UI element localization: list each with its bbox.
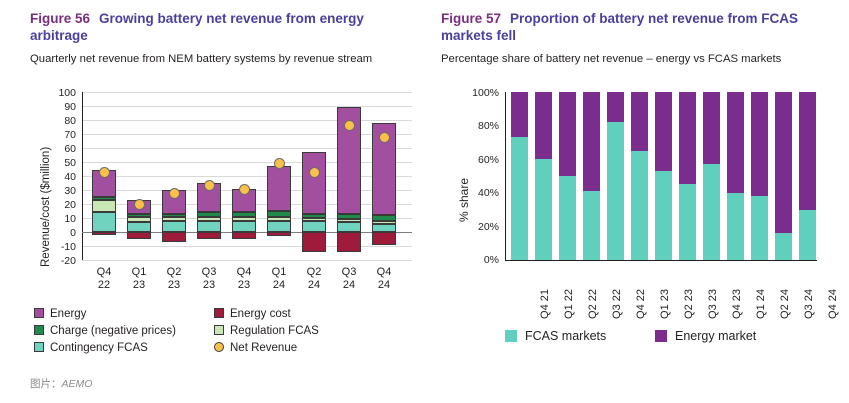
bar-seg-fcas-markets (631, 151, 648, 260)
bar-group (511, 92, 528, 260)
bar-seg-energy-market (799, 92, 816, 210)
figure56-y-axis (82, 92, 83, 260)
figure57-x-axis (505, 260, 817, 261)
x-tick-label: Q3 22 (611, 284, 624, 324)
bar-seg-energy (267, 166, 291, 211)
x-tick-label: Q223 (160, 266, 188, 291)
bar-seg-regulation (337, 219, 361, 222)
y-tick: -10 (44, 242, 76, 252)
legend-label: FCAS markets (525, 329, 606, 343)
bar-seg-fcas-markets (655, 171, 672, 260)
y-tick: 60% (463, 155, 499, 165)
page-root: Figure 56Growing battery net revenue fro… (0, 0, 849, 403)
source-note-label: 图片： (30, 378, 62, 390)
bar-group (727, 92, 744, 260)
bar-seg-energy-market (775, 92, 792, 233)
x-tick-label: Q124 (265, 266, 293, 291)
net-revenue-marker (344, 120, 355, 131)
figure56-number: Figure 56 (30, 11, 90, 26)
bar-group (607, 92, 624, 260)
bar-seg-fcas-markets (559, 176, 576, 260)
net-revenue-marker (239, 184, 250, 195)
x-tick-label: Q4 21 (539, 284, 552, 324)
y-tick: 100% (463, 88, 499, 98)
y-tick: 0% (463, 255, 499, 265)
y-tick: 80 (50, 116, 76, 126)
bar-seg-fcas-markets (679, 184, 696, 260)
bar-group (197, 82, 221, 262)
x-tick-label: Q1 23 (659, 284, 672, 324)
legend-swatch-regulation-fcas (214, 325, 224, 335)
net-revenue-marker (169, 188, 180, 199)
bar-seg-energy-market (511, 92, 528, 137)
figure57-legend: FCAS markets Energy market (505, 329, 835, 349)
bar-seg-fcas-markets (607, 122, 624, 260)
bar-seg-energy-cost (162, 232, 186, 242)
bar-group (92, 82, 116, 262)
legend-swatch-contingency-fcas (34, 342, 44, 352)
y-tick: 20 (50, 200, 76, 210)
bar-seg-energy-cost (267, 232, 291, 236)
legend-item-net-revenue: Net Revenue (214, 342, 297, 354)
bar-seg-fcas-markets (583, 191, 600, 260)
bar-seg-energy-market (559, 92, 576, 176)
bar-group (337, 82, 361, 262)
bar-seg-contingency (267, 221, 291, 232)
bar-seg-energy-market (631, 92, 648, 151)
bar-seg-charge (197, 212, 221, 216)
bar-seg-fcas-markets (775, 233, 792, 260)
y-tick: 20% (463, 222, 499, 232)
bar-seg-energy-market (679, 92, 696, 184)
bar-seg-energy-cost (372, 232, 396, 245)
legend-item-contingency-fcas: Contingency FCAS (34, 342, 148, 354)
figure56-plot: Revenue/cost ($million) 100 90 80 70 60 … (30, 82, 420, 277)
bar-seg-contingency (162, 221, 186, 232)
bar-seg-contingency (197, 221, 221, 232)
x-tick-label: Q2 22 (587, 284, 600, 324)
x-tick-label: Q3 23 (707, 284, 720, 324)
bar-seg-energy-cost (197, 232, 221, 239)
legend-swatch-fcas-markets (505, 330, 517, 342)
figure57-title: Figure 57Proportion of battery net reven… (441, 10, 836, 44)
legend-item-energy: Energy (34, 308, 86, 320)
bar-seg-fcas-markets (535, 159, 552, 260)
legend-label: Net Revenue (230, 342, 297, 354)
x-tick-label: Q323 (195, 266, 223, 291)
bar-group (267, 82, 291, 262)
bar-seg-fcas-markets (511, 137, 528, 260)
bar-seg-contingency (372, 224, 396, 232)
bar-group (703, 92, 720, 260)
figure57-plot: % share 100% 80% 60% 40% 20% 0% (441, 82, 841, 282)
bar-seg-regulation (197, 217, 221, 221)
x-tick-label: Q1 24 (755, 284, 768, 324)
y-tick: 30 (50, 186, 76, 196)
bar-seg-energy (302, 152, 326, 214)
bar-group (162, 82, 186, 262)
bar-seg-charge (302, 214, 326, 218)
bar-seg-fcas-markets (703, 164, 720, 260)
bar-group (751, 92, 768, 260)
bar-seg-energy-market (583, 92, 600, 191)
bar-seg-energy-market (535, 92, 552, 159)
bar-seg-energy-cost (302, 232, 326, 252)
net-revenue-marker (309, 167, 320, 178)
bar-seg-energy-cost (92, 232, 116, 235)
bar-seg-energy-market (703, 92, 720, 164)
bar-group (302, 82, 326, 262)
figure56-title: Figure 56Growing battery net revenue fro… (30, 10, 420, 44)
bar-seg-charge (337, 214, 361, 220)
legend-label: Charge (negative prices) (50, 325, 176, 337)
figure57-number: Figure 57 (441, 11, 501, 26)
net-revenue-marker (134, 199, 145, 210)
bar-group (583, 92, 600, 260)
bar-seg-energy-market (727, 92, 744, 193)
bar-seg-energy-market (607, 92, 624, 122)
bar-seg-contingency (92, 212, 116, 232)
x-tick-label: Q4 24 (827, 284, 840, 324)
bar-seg-energy-market (655, 92, 672, 171)
legend-item-charge: Charge (negative prices) (34, 325, 176, 337)
bar-seg-charge (92, 197, 116, 200)
bar-seg-fcas-markets (799, 210, 816, 260)
bar-seg-charge (162, 214, 186, 217)
figure57-y-axis (505, 92, 506, 260)
x-tick-label: Q324 (335, 266, 363, 291)
bar-group (655, 92, 672, 260)
legend-swatch-energy-cost (214, 308, 224, 318)
y-tick: 60 (50, 144, 76, 154)
legend-swatch-energy (34, 308, 44, 318)
bar-group (372, 82, 396, 262)
legend-item-fcas-markets: FCAS markets (505, 329, 606, 343)
figure56-subtitle: Quarterly net revenue from NEM battery s… (30, 52, 430, 66)
x-tick-label: Q2 24 (779, 284, 792, 324)
bar-group (232, 82, 256, 262)
bar-seg-regulation (127, 217, 151, 223)
y-tick: 80% (463, 121, 499, 131)
bar-group (679, 92, 696, 260)
bar-group (127, 82, 151, 262)
figure57-y-axis-label: % share (457, 178, 471, 222)
y-tick: 100 (50, 88, 76, 98)
y-tick: 90 (50, 102, 76, 112)
y-tick: 40% (463, 188, 499, 198)
y-tick: 10 (50, 214, 76, 224)
bar-seg-fcas-markets (727, 193, 744, 260)
legend-swatch-energy-market (655, 330, 667, 342)
bar-group (799, 92, 816, 260)
legend-label: Regulation FCAS (230, 325, 319, 337)
bar-seg-energy-cost (127, 232, 151, 239)
legend-item-regulation-fcas: Regulation FCAS (214, 325, 319, 337)
net-revenue-marker (204, 180, 215, 191)
bar-seg-energy-cost (232, 232, 256, 239)
x-tick-label: Q2 23 (683, 284, 696, 324)
x-tick-label: Q1 22 (563, 284, 576, 324)
bar-seg-energy-market (751, 92, 768, 196)
legend-swatch-net-revenue (214, 342, 224, 352)
legend-item-energy-cost: Energy cost (214, 308, 291, 320)
x-tick-label: Q123 (125, 266, 153, 291)
x-tick-label: Q4 23 (731, 284, 744, 324)
x-tick-label: Q422 (90, 266, 118, 291)
net-revenue-marker (379, 132, 390, 143)
legend-item-energy-market: Energy market (655, 329, 756, 343)
bar-seg-energy-cost (337, 232, 361, 252)
legend-label: Energy (50, 308, 86, 320)
bar-seg-regulation (372, 221, 396, 224)
figure56-legend: Energy Energy cost Charge (negative pric… (34, 308, 424, 358)
x-tick-label: Q4 22 (635, 284, 648, 324)
bar-seg-contingency (127, 222, 151, 232)
bar-seg-regulation (267, 217, 291, 221)
bar-seg-regulation (302, 218, 326, 221)
bar-seg-charge (232, 212, 256, 216)
bar-seg-charge (267, 211, 291, 217)
bar-seg-charge (127, 214, 151, 217)
y-tick: -20 (44, 256, 76, 266)
x-tick-label: Q224 (300, 266, 328, 291)
bar-group (559, 92, 576, 260)
bar-seg-contingency (337, 222, 361, 232)
bar-seg-regulation (92, 200, 116, 213)
legend-label: Energy cost (230, 308, 291, 320)
source-note: 图片：AEMO (30, 376, 92, 391)
bar-seg-contingency (232, 221, 256, 232)
legend-label: Contingency FCAS (50, 342, 148, 354)
bar-seg-charge (372, 215, 396, 221)
bar-group (535, 92, 552, 260)
x-tick-label: Q423 (230, 266, 258, 291)
bar-seg-regulation (232, 217, 256, 221)
net-revenue-marker (99, 167, 110, 178)
figure57-subtitle: Percentage share of battery net revenue … (441, 52, 841, 66)
y-tick: 40 (50, 172, 76, 182)
source-note-value: AEMO (62, 378, 93, 390)
bar-seg-contingency (302, 221, 326, 232)
y-tick: 50 (50, 158, 76, 168)
y-tick: 0 (50, 228, 76, 238)
net-revenue-marker (274, 158, 285, 169)
x-tick-label: Q3 24 (803, 284, 816, 324)
y-tick: 70 (50, 130, 76, 140)
x-tick-label: Q424 (370, 266, 398, 291)
legend-label: Energy market (675, 329, 756, 343)
bar-seg-fcas-markets (751, 196, 768, 260)
bar-group (631, 92, 648, 260)
bar-group (775, 92, 792, 260)
bar-seg-regulation (162, 217, 186, 221)
legend-swatch-charge (34, 325, 44, 335)
